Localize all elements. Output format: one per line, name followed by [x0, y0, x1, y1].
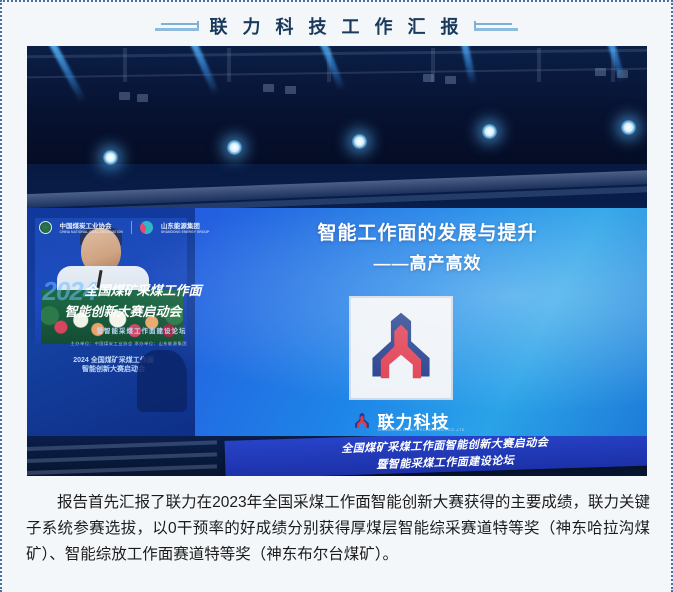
- banner-line-2: 暨智能采煤工作面建设论坛: [376, 451, 514, 471]
- wordmark-text: 联力科技: [378, 408, 450, 433]
- wordmark-sub: SHANDONG LIANLI TECHNOLOGY CO.,LTD: [378, 428, 465, 432]
- report-page: 联 力 科 技 工 作 汇 报: [0, 0, 673, 592]
- lianli-glyph-icon: [352, 410, 372, 432]
- slide-title: 智能工作面的发展与提升: [223, 218, 633, 245]
- event-line-2: 智能创新大赛启动会: [65, 301, 265, 320]
- audience-silhouette: [137, 350, 187, 412]
- event-line-4: 主办单位：中国煤炭工业协会 承办单位：山东能源集团: [71, 341, 271, 347]
- lianli-wordmark: 联力科技 SHANDONG LIANLI TECHNOLOGY CO.,LTD: [352, 408, 450, 433]
- lianli-arrow-logo-icon: [349, 296, 453, 400]
- stage-front: 全国煤矿采煤工作面智能创新大赛启动会 暨智能采煤工作面建设论坛: [27, 436, 647, 476]
- podium-flowers: [41, 290, 183, 344]
- led-wall: 2024 全国煤矿采煤工作面 智能创新大赛启动会 中国煤炭工业协会 CHINA …: [27, 208, 647, 438]
- event-line-1: 全国煤矿采煤工作面: [85, 280, 285, 299]
- stage-light-head: [103, 150, 118, 165]
- sponsor-1-sub: CHINA NATIONAL COAL ASSOCIATION: [60, 230, 123, 234]
- stage-light-head: [352, 134, 367, 149]
- sponsor-2-sub: SHANDONG ENERGY GROUP: [161, 230, 209, 234]
- speaker-shirt: [57, 266, 149, 326]
- report-paragraph: 报告首先汇报了联力在2023年全国采煤工作面智能创新大赛获得的主要成绩，联力关键…: [26, 490, 650, 568]
- stage-banner: 全国煤矿采煤工作面智能创新大赛启动会 暨智能采煤工作面建设论坛: [224, 436, 646, 476]
- bracket-right-icon: [474, 18, 518, 34]
- side-overlay-line2: 智能创新大赛启动会: [55, 365, 173, 374]
- speaker-head: [81, 228, 121, 274]
- slide-title-area: 智能工作面的发展与提升 ——高产高效: [223, 218, 633, 274]
- speaker-hair: [80, 226, 122, 246]
- side-overlay-line1: 2024 全国煤矿采煤工作面: [55, 356, 173, 365]
- conference-photo: 2024 全国煤矿采煤工作面 智能创新大赛启动会 中国煤炭工业协会 CHINA …: [27, 46, 647, 476]
- ceiling-truss: [27, 46, 647, 164]
- speaker-video-feed: [35, 218, 187, 344]
- stage-light-head: [227, 140, 242, 155]
- bracket-left-icon: [155, 18, 199, 34]
- event-line-3: 暨智能采煤工作面建设论坛: [97, 325, 297, 335]
- page-title: 联 力 科 技 工 作 汇 报: [209, 13, 463, 39]
- sponsor-2-name: 山东能源集团 SHANDONG ENERGY GROUP: [161, 220, 209, 234]
- event-branding-block: 2024 全国煤矿采煤工作面 智能创新大赛启动会 暨智能采煤工作面建设论坛 主办…: [43, 280, 243, 347]
- sponsor-1-name: 中国煤炭工业协会 CHINA NATIONAL COAL ASSOCIATION: [60, 220, 123, 234]
- logo-divider: [131, 221, 132, 234]
- slide-subtitle: ——高产高效: [223, 249, 633, 274]
- coal-association-emblem-icon: [39, 221, 52, 234]
- side-screen-overlay: 2024 全国煤矿采煤工作面 智能创新大赛启动会: [55, 356, 173, 382]
- stage-light-head: [482, 124, 497, 139]
- side-screen: 2024 全国煤矿采煤工作面 智能创新大赛启动会: [27, 208, 195, 438]
- event-year: 2024: [43, 276, 97, 307]
- shandong-energy-emblem-icon: [140, 221, 153, 234]
- page-header: 联 力 科 技 工 作 汇 报: [2, 2, 671, 46]
- stage-light-head: [621, 120, 636, 135]
- slide-sponsor-logos: 中国煤炭工业协会 CHINA NATIONAL COAL ASSOCIATION…: [39, 220, 210, 234]
- microphone-icon: [94, 270, 102, 300]
